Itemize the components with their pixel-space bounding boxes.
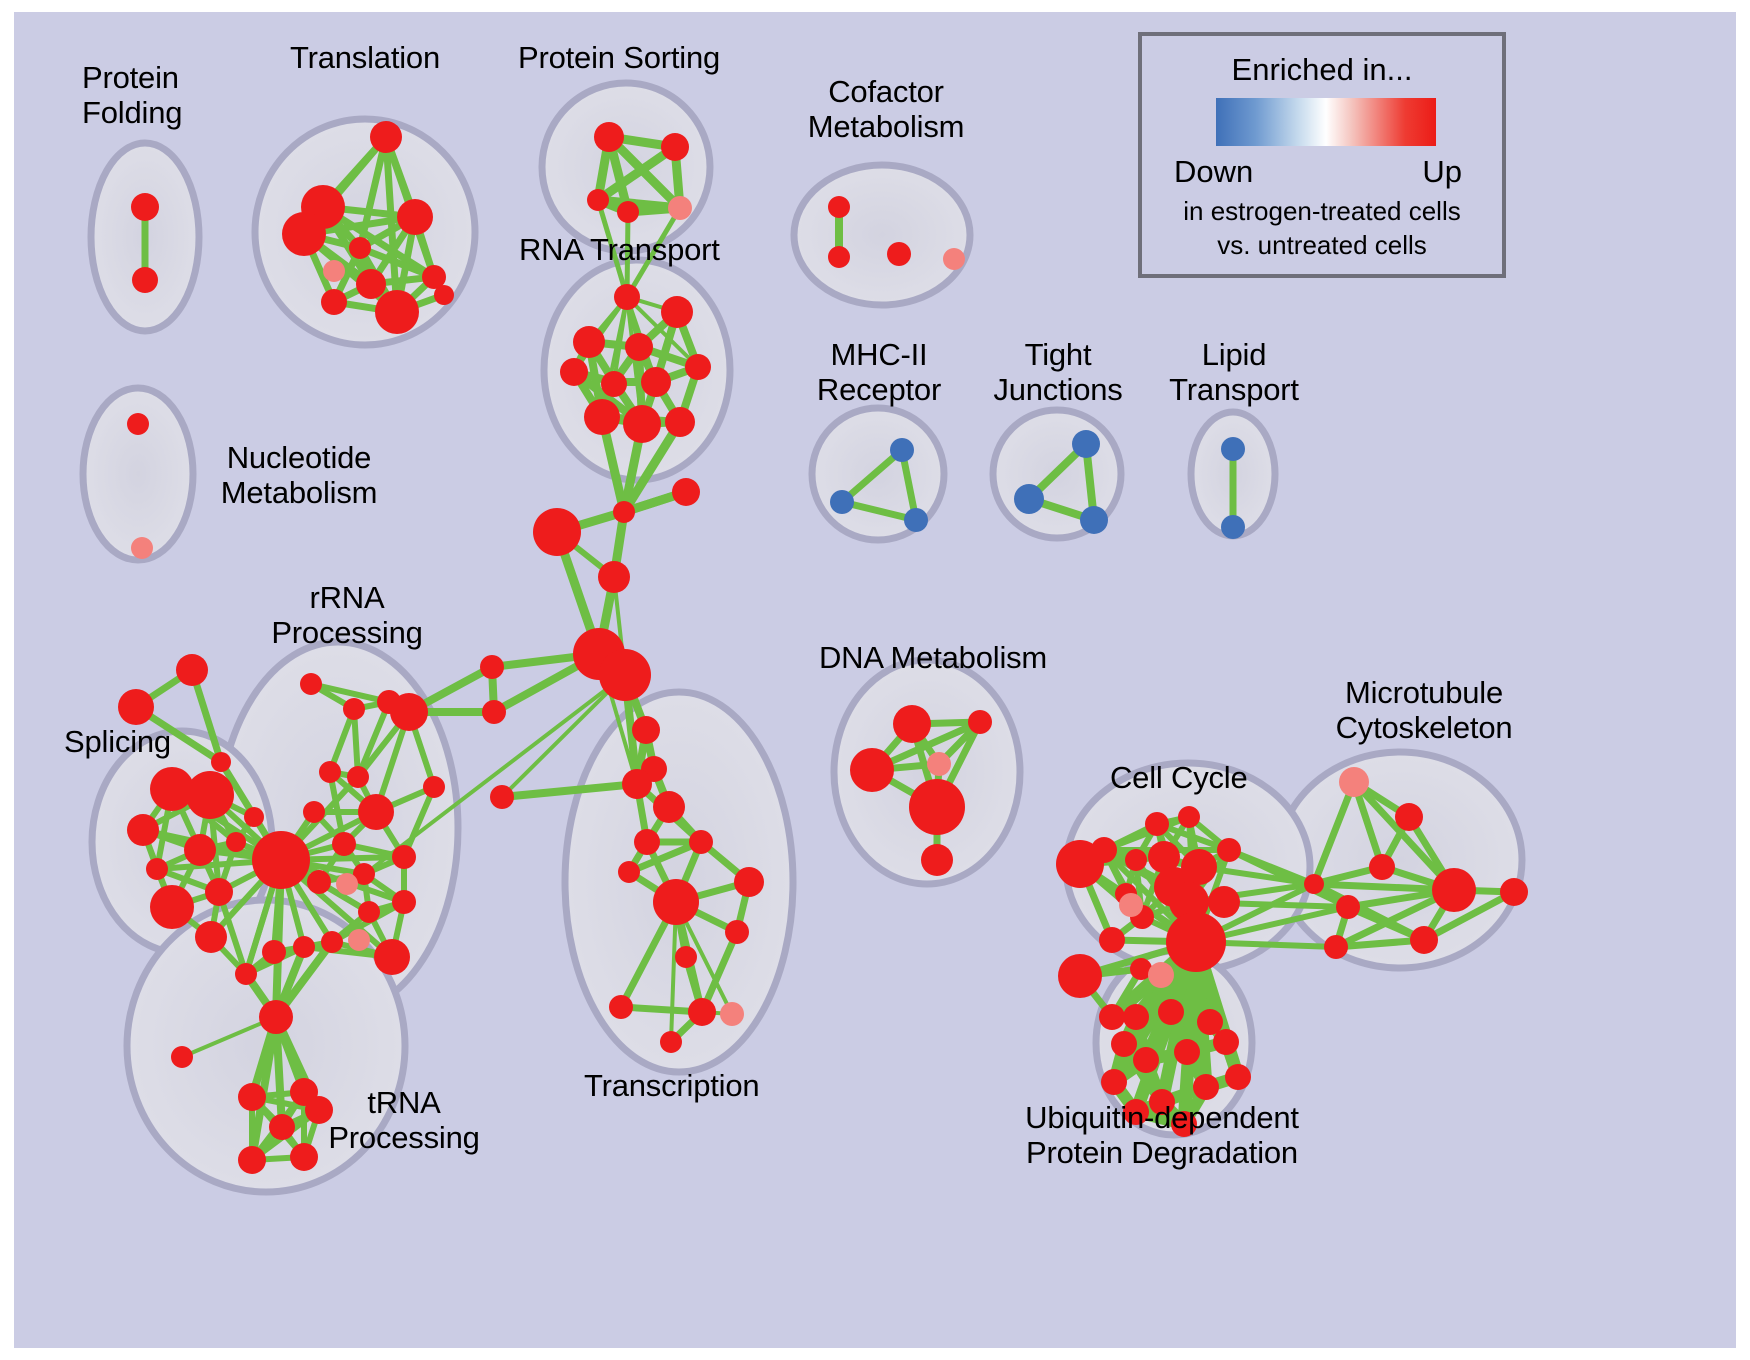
cluster-label-rrna-processing: rRNA Processing bbox=[262, 580, 432, 650]
cluster-label-mhc-ii-receptor: MHC-II Receptor bbox=[799, 337, 959, 407]
legend-title: Enriched in... bbox=[1142, 52, 1502, 88]
network-plot-area: Protein Folding Translation Protein Sort… bbox=[14, 12, 1736, 1348]
node-translation-mid bbox=[323, 260, 345, 282]
node-ubiquitin-mid bbox=[1148, 962, 1174, 988]
node-cofactor-mid bbox=[943, 248, 965, 270]
legend-down-label: Down bbox=[1174, 154, 1253, 190]
node-transcription-mid bbox=[720, 1002, 744, 1026]
cluster-label-transcription: Transcription bbox=[584, 1068, 759, 1103]
node-cell-cycle-mid bbox=[1119, 893, 1143, 917]
node-nucleotide-up bbox=[127, 413, 149, 435]
legend-subtitle-line2: vs. untreated cells bbox=[1142, 230, 1502, 261]
legend-subtitle-line1: in estrogen-treated cells bbox=[1142, 196, 1502, 227]
cluster-label-lipid-transport: Lipid Transport bbox=[1159, 337, 1309, 407]
node-rrna-mid-2 bbox=[348, 929, 370, 951]
cluster-label-microtubule-cytoskeleton: Microtubule Cytoskeleton bbox=[1304, 675, 1544, 745]
legend-panel: Enriched in... Down Up in estrogen-treat… bbox=[1138, 32, 1506, 278]
cluster-label-protein-sorting: Protein Sorting bbox=[518, 40, 720, 75]
node-protein-sorting-mid bbox=[668, 196, 692, 220]
cluster-label-tight-junctions: Tight Junctions bbox=[982, 337, 1134, 407]
cluster-label-rna-transport: RNA Transport bbox=[519, 232, 720, 267]
cluster-label-dna-metabolism: DNA Metabolism bbox=[819, 640, 1047, 675]
node-microtubule-mid bbox=[1339, 767, 1369, 797]
node-dna-metabolism-mid bbox=[927, 752, 951, 776]
hull-microtubule bbox=[1278, 752, 1522, 968]
cluster-label-nucleotide-metabolism: Nucleotide Metabolism bbox=[204, 440, 394, 510]
hull-cofactor bbox=[794, 165, 970, 305]
cluster-label-ubiquitin-protein-degradation: Ubiquitin-dependent Protein Degradation bbox=[982, 1100, 1342, 1170]
legend-color-gradient-bar bbox=[1216, 98, 1436, 146]
cluster-label-protein-folding: Protein Folding bbox=[82, 60, 182, 130]
legend-up-label: Up bbox=[1422, 154, 1462, 190]
figure-canvas: Protein Folding Translation Protein Sort… bbox=[0, 0, 1750, 1360]
cluster-label-splicing: Splicing bbox=[64, 724, 171, 759]
cluster-label-cell-cycle: Cell Cycle bbox=[1110, 760, 1248, 795]
node-rrna-mid-1 bbox=[336, 873, 358, 895]
cluster-label-cofactor-metabolism: Cofactor Metabolism bbox=[796, 74, 976, 144]
cluster-label-translation: Translation bbox=[290, 40, 440, 75]
node-nucleotide-mid bbox=[131, 537, 153, 559]
cluster-label-trna-processing: tRNA Processing bbox=[314, 1085, 494, 1155]
